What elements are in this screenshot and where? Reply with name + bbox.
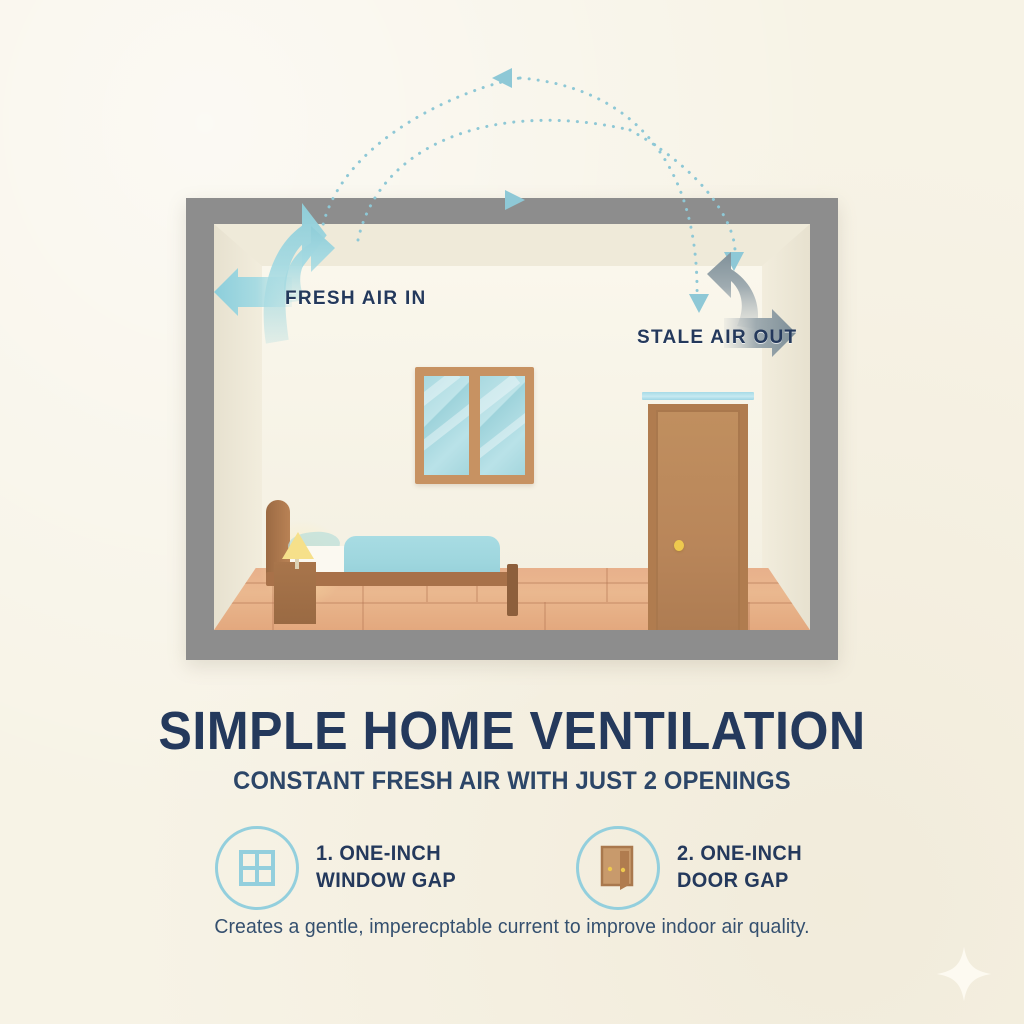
door-gap-opening xyxy=(642,392,754,400)
page-title: SIMPLE HOME VENTILATION xyxy=(36,700,988,762)
fresh-air-in-label: FRESH AIR IN xyxy=(285,288,427,310)
feature-line-1: 1. ONE-INCH xyxy=(316,841,456,868)
bed xyxy=(260,500,528,618)
sparkle-icon xyxy=(935,945,993,1003)
open-door-icon xyxy=(597,845,639,891)
nightstand xyxy=(274,562,316,624)
door-jamb xyxy=(648,404,748,630)
window xyxy=(415,367,534,484)
window-pane-left xyxy=(424,376,469,475)
door-panel xyxy=(656,410,740,630)
door-knob xyxy=(674,540,684,551)
bed-leg xyxy=(507,564,518,616)
feature-line-2: DOOR GAP xyxy=(677,868,802,895)
infographic-canvas: FRESH AIR IN STALE AIR OUT SIMPLE HOME V… xyxy=(0,0,1024,1024)
window-pane-icon xyxy=(237,848,277,888)
right-wall-plane xyxy=(762,224,810,630)
room-interior xyxy=(214,224,810,630)
door-group xyxy=(648,392,748,630)
feature-line-1: 2. ONE-INCH xyxy=(677,841,802,868)
feature-item-window-gap: 1. ONE-INCH WINDOW GAP xyxy=(215,826,463,910)
feature-line-2: WINDOW GAP xyxy=(316,868,456,895)
lamp-base xyxy=(295,559,299,569)
ceiling-plane xyxy=(214,224,810,266)
feature-list: 1. ONE-INCH WINDOW GAP 2. ONE-INCH DOOR … xyxy=(0,826,1024,910)
feature-item-door-gap: 2. ONE-INCH DOOR GAP xyxy=(576,826,809,910)
stale-air-out-label: STALE AIR OUT xyxy=(637,327,797,349)
feature-label: 2. ONE-INCH DOOR GAP xyxy=(677,841,802,895)
window-pane-right xyxy=(480,376,525,475)
lamp-shade xyxy=(282,532,314,559)
left-wall-plane xyxy=(214,224,262,630)
feature-icon-circle xyxy=(576,826,660,910)
feature-icon-circle xyxy=(215,826,299,910)
room-diagram xyxy=(186,198,838,660)
footer-caption: Creates a gentle, imperecptable current … xyxy=(15,916,1008,939)
page-subtitle: CONSTANT FRESH AIR WITH JUST 2 OPENINGS xyxy=(26,767,999,796)
feature-label: 1. ONE-INCH WINDOW GAP xyxy=(316,841,456,895)
